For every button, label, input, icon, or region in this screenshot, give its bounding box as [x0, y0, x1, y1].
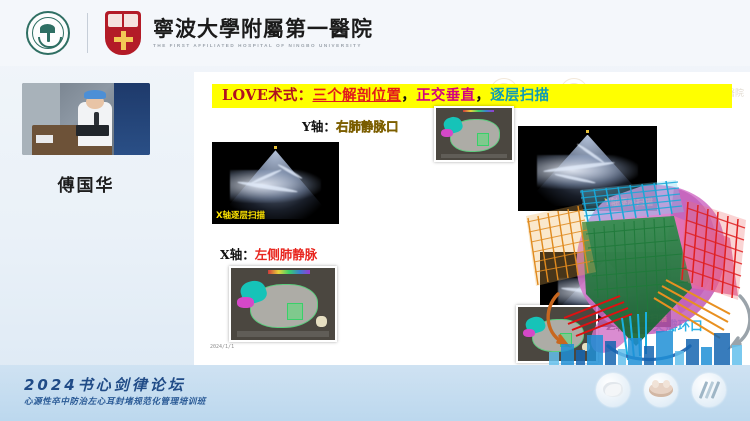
presentation-slide: 寧波大學附屬第一醫院 LOVE术式： 三个解剖位置 ， 正交垂直 ， 逐层扫描 …	[194, 72, 750, 365]
model-left-datestamp: 2024/1/1	[210, 344, 234, 350]
model-3d-top[interactable]	[434, 106, 514, 162]
page-header: 寧波大學附屬第一醫院 THE FIRST AFFILIATED HOSPITAL…	[0, 0, 750, 66]
forum-subtitle: 心源性卒中防治左心耳封堵规范化管理培训班	[24, 395, 206, 407]
page-footer: 2024书心剑律论坛 心源性卒中防治左心耳封堵规范化管理培训班	[0, 365, 750, 421]
heart-anatomy-icon	[644, 373, 678, 407]
title-part-1: 三个解剖位置	[312, 89, 401, 104]
title-prefix: LOVE术式：	[222, 89, 312, 104]
presenter-panel: 傅国华	[22, 83, 150, 196]
title-comma-2: ，	[475, 89, 490, 104]
axis-x-value: 左侧肺静脉	[255, 247, 318, 262]
presenter-name: 傅国华	[22, 171, 150, 196]
axis-label-y: Y轴：右肺静脉口	[302, 116, 398, 135]
slide-viewer: 寧波大學附屬第一醫院 THE FIRST AFFILIATED HOSPITAL…	[0, 0, 750, 421]
title-part-3: 逐层扫描	[490, 89, 549, 104]
axis-y-key: Y轴：	[302, 119, 336, 134]
ultrasound-x-label: X轴逐层扫描	[216, 209, 265, 221]
slide-title: LOVE术式： 三个解剖位置 ， 正交垂直 ， 逐层扫描	[212, 84, 732, 108]
footer-icon-group	[596, 373, 726, 407]
brand-name-cn: 寧波大學附屬第一醫院	[153, 18, 373, 40]
hospital-seal-icon	[26, 11, 70, 55]
title-part-2: 正交垂直	[416, 89, 475, 104]
title-comma-1: ，	[401, 89, 416, 104]
brand-block: 寧波大學附屬第一醫院 THE FIRST AFFILIATED HOSPITAL…	[153, 18, 373, 48]
forum-title: 2024书心剑律论坛	[24, 374, 186, 395]
brand-name-en: THE FIRST AFFILIATED HOSPITAL OF NINGBO …	[153, 43, 373, 48]
axis-y-value: 右肺静脉口	[336, 119, 399, 134]
header-divider	[87, 13, 88, 53]
axis-label-x: X轴：左侧肺静脉	[220, 244, 317, 263]
medical-instruments-icon	[692, 373, 726, 407]
brain-icon	[596, 373, 630, 407]
presenter-video[interactable]	[22, 83, 150, 155]
axis-x-key: X轴：	[220, 247, 255, 262]
model-3d-left[interactable]	[229, 266, 337, 342]
city-skyline-decoration	[545, 323, 750, 365]
ultrasound-x-axis[interactable]: X轴逐层扫描	[212, 142, 339, 224]
university-shield-icon	[105, 11, 141, 55]
